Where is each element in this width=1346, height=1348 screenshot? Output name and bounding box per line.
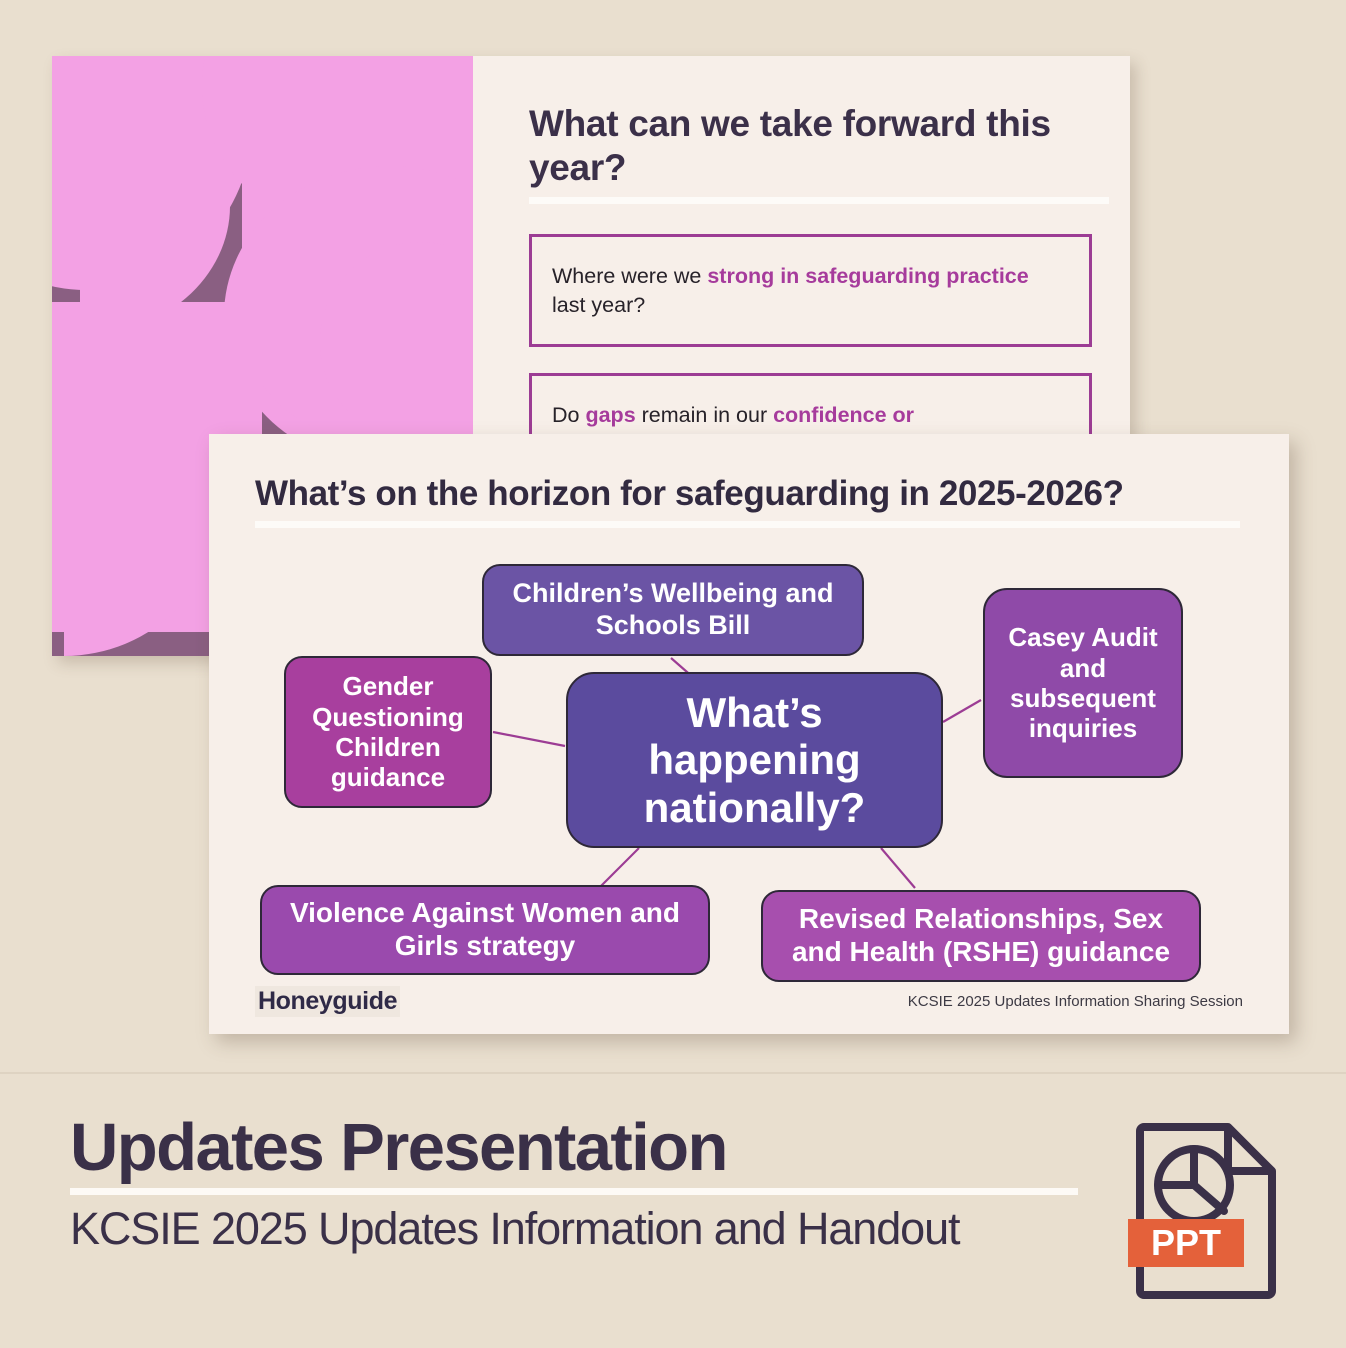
front-slide-footer: Honeyguide KCSIE 2025 Updates Informatio… [255, 986, 1243, 1016]
mindmap-node-cwsb[interactable]: Children’s Wellbeing and Schools Bill [482, 564, 864, 656]
connector-gender [493, 732, 565, 746]
slide-footnote: KCSIE 2025 Updates Information Sharing S… [908, 993, 1243, 1010]
front-slide[interactable]: What’s on the horizon for safeguarding i… [209, 434, 1289, 1034]
mindmap-node-center[interactable]: What’s happening nationally? [566, 672, 943, 848]
honeyguide-logo: Honeyguide [255, 986, 400, 1017]
ppt-file-icon: PPT [1128, 1119, 1288, 1299]
front-slide-title: What’s on the horizon for safeguarding i… [255, 474, 1243, 514]
node-label: Casey Audit and subsequent inquiries [995, 622, 1171, 744]
title-underline [255, 521, 1240, 528]
mindmap: Children’s Wellbeing and Schools Bill Ge… [209, 550, 1289, 980]
question-1-tail: last year? [552, 293, 645, 317]
caption-banner: Updates Presentation KCSIE 2025 Updates … [0, 1072, 1346, 1348]
back-slide-title: What can we take forward this year? [529, 102, 1092, 189]
front-slide-body: What’s on the horizon for safeguarding i… [209, 434, 1289, 1034]
question-2-mid: remain in our [636, 403, 773, 427]
connector-casey [943, 700, 981, 722]
mindmap-node-vawg[interactable]: Violence Against Women and Girls strateg… [260, 885, 710, 975]
question-text-1: Where were we strong in safeguarding pra… [552, 262, 1067, 319]
question-1-highlight: strong in safeguarding practice [707, 264, 1028, 288]
caption-text-block: Updates Presentation KCSIE 2025 Updates … [70, 1114, 1080, 1252]
mindmap-node-gender[interactable]: Gender Questioning Children guidance [284, 656, 492, 808]
node-label: Children’s Wellbeing and Schools Bill [494, 578, 852, 641]
node-label: Revised Relationships, Sex and Health (R… [773, 903, 1189, 969]
ppt-badge-label: PPT [1151, 1222, 1221, 1263]
bubble-shape [372, 246, 473, 336]
question-2-highlight: gaps [585, 403, 635, 427]
node-label: Gender Questioning Children guidance [296, 671, 480, 793]
product-title: Updates Presentation [70, 1114, 1080, 1181]
title-underline [70, 1188, 1078, 1195]
mindmap-node-rshe[interactable]: Revised Relationships, Sex and Health (R… [761, 890, 1201, 982]
question-box-1: Where were we strong in safeguarding pra… [529, 234, 1092, 347]
connector-rshe [881, 848, 915, 888]
product-subtitle: KCSIE 2025 Updates Information and Hando… [70, 1205, 1080, 1252]
node-label: Violence Against Women and Girls strateg… [272, 897, 698, 963]
question-2-lead: Do [552, 403, 585, 427]
question-1-lead: Where were we [552, 264, 707, 288]
node-label: What’s happening nationally? [578, 689, 931, 830]
mindmap-node-casey[interactable]: Casey Audit and subsequent inquiries [983, 588, 1183, 778]
bubble-tail [64, 496, 224, 656]
product-shot-area: What can we take forward this year? Wher… [0, 0, 1346, 1072]
title-underline [529, 197, 1109, 204]
connector-vawg [601, 848, 639, 886]
